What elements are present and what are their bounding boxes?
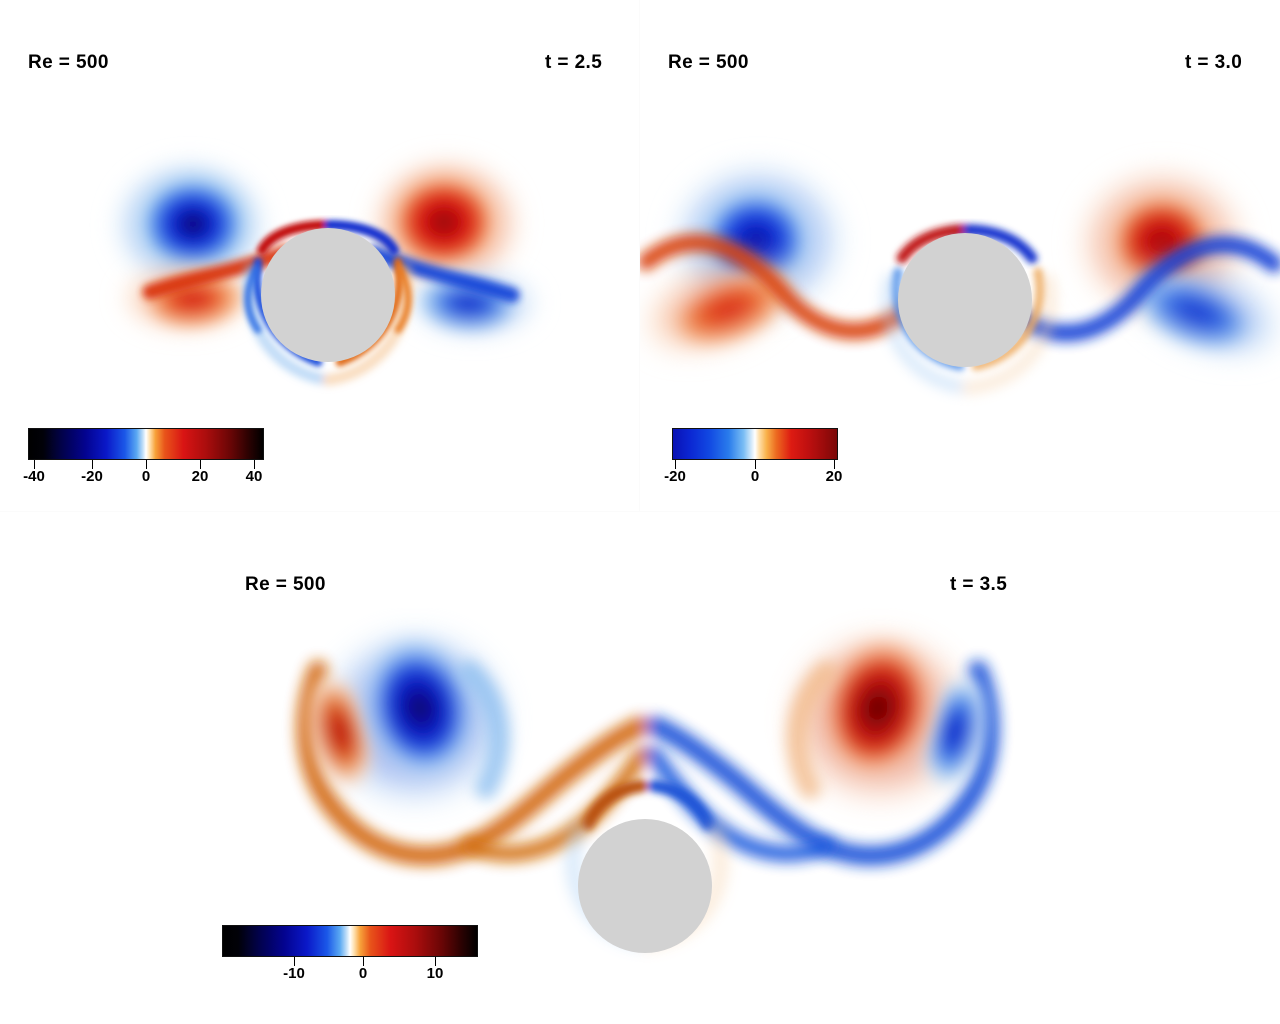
- panel-t25: Re = 500 t = 2.5: [0, 0, 640, 512]
- tick-label: -20: [664, 468, 686, 485]
- tick-label: 40: [246, 468, 263, 485]
- tick-label: -40: [23, 468, 45, 485]
- panel-t35-reynolds-label: Re = 500: [245, 574, 326, 596]
- panel-t30-colorbar: -20 0 20: [672, 428, 838, 486]
- panel-t25-colorbar-gradient: [28, 428, 264, 460]
- tick-label: 20: [192, 468, 209, 485]
- tick-label: 0: [359, 965, 367, 982]
- tick-label: 0: [142, 468, 150, 485]
- tick-label: 20: [826, 468, 843, 485]
- panel-t25-cylinder: [261, 228, 395, 362]
- panel-t30-vorticity-field: [640, 0, 1280, 420]
- panel-t35: Re = 500 t = 3.5: [0, 512, 1280, 1024]
- panel-t35-vorticity-field: [0, 608, 1280, 1008]
- panel-t30-colorbar-ticks: -20 0 20: [672, 460, 838, 486]
- panel-t35-time-label: t = 3.5: [950, 574, 1007, 596]
- tick-label: -20: [81, 468, 103, 485]
- panel-t25-vorticity-field: [0, 0, 640, 420]
- panel-t25-colorbar: -40 -20 0 20 40: [28, 428, 264, 486]
- tick-label: -10: [283, 965, 305, 982]
- tick-label: 0: [751, 468, 759, 485]
- panel-t30-cylinder: [898, 233, 1032, 367]
- panel-t35-colorbar: -10 0 10: [222, 925, 478, 983]
- tick-label: 10: [427, 965, 444, 982]
- panel-t35-colorbar-ticks: -10 0 10: [222, 957, 478, 983]
- panel-t35-cylinder: [578, 819, 712, 953]
- panel-t25-colorbar-ticks: -40 -20 0 20 40: [28, 460, 264, 486]
- figure-canvas: Re = 500 t = 2.5: [0, 0, 1280, 1024]
- panel-t30: Re = 500 t = 3.0: [640, 0, 1280, 512]
- panel-t30-colorbar-gradient: [672, 428, 838, 460]
- panel-t35-colorbar-gradient: [222, 925, 478, 957]
